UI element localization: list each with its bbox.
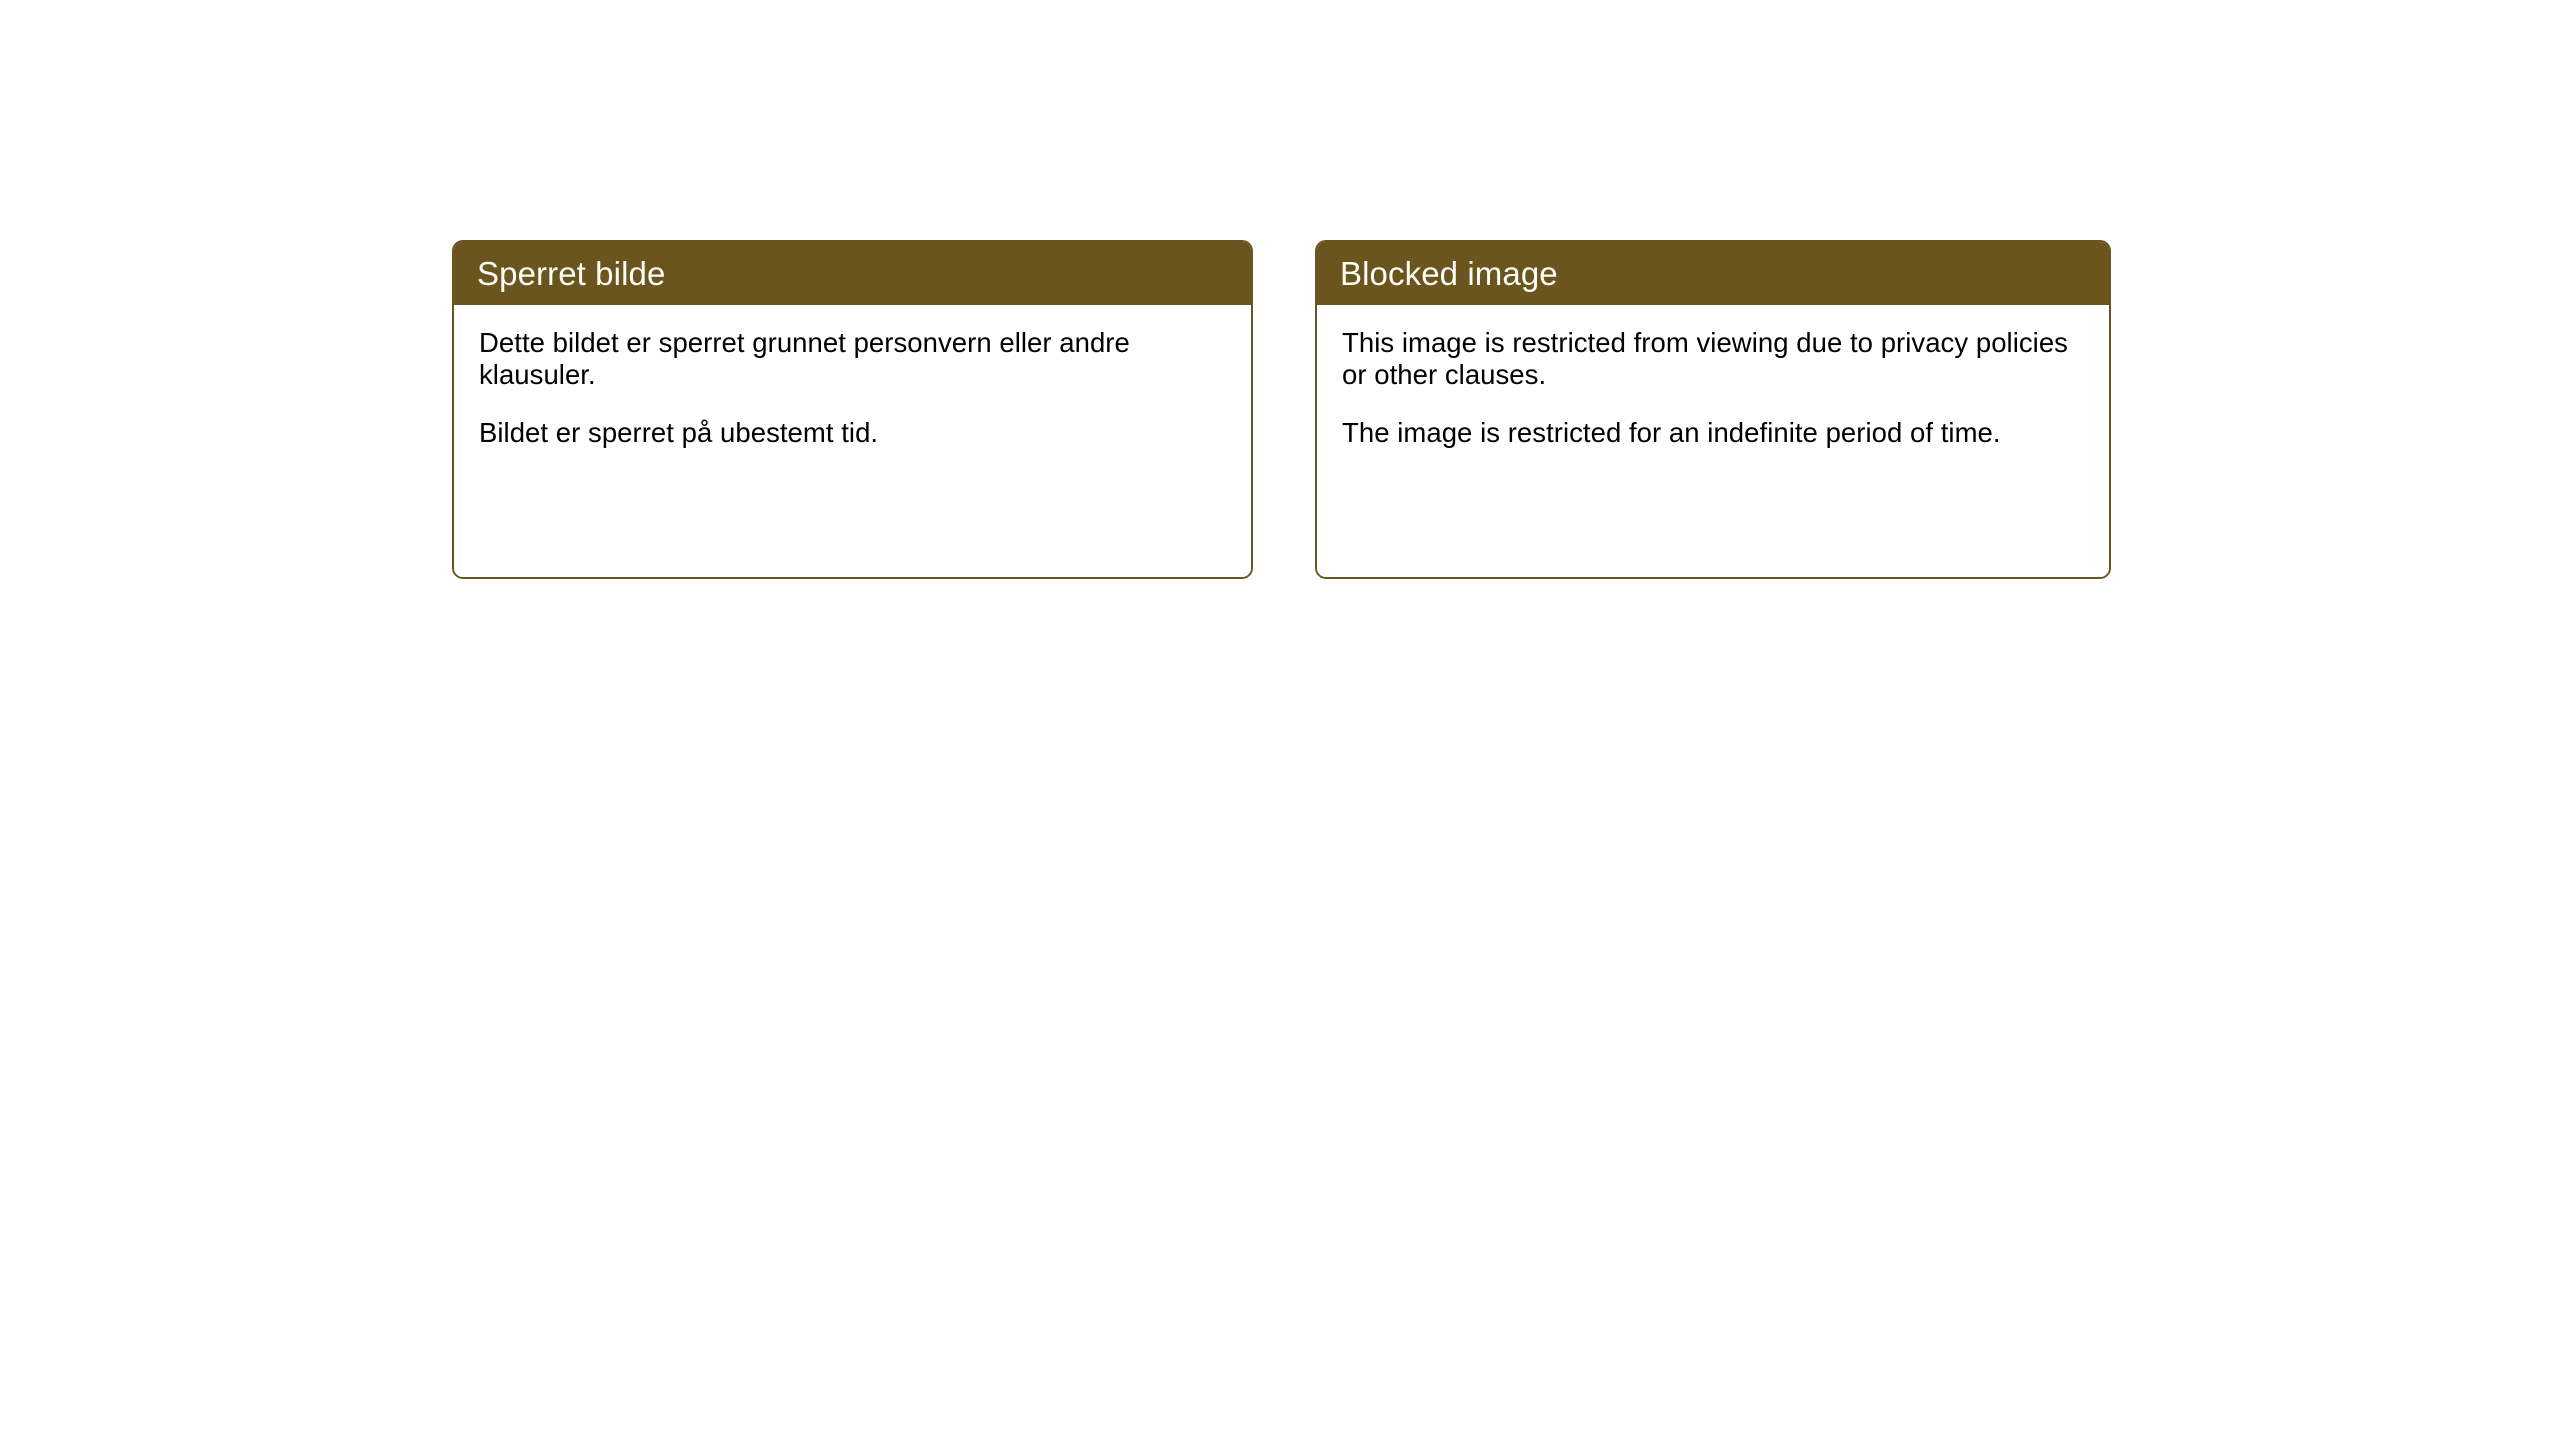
- card-paragraph-secondary-norwegian: Bildet er sperret på ubestemt tid.: [479, 417, 1227, 449]
- card-body-english: This image is restricted from viewing du…: [1317, 305, 2109, 577]
- card-header-english: Blocked image: [1317, 242, 2109, 305]
- card-paragraph-secondary-english: The image is restricted for an indefinit…: [1342, 417, 2085, 449]
- card-header-norwegian: Sperret bilde: [454, 242, 1251, 305]
- card-body-norwegian: Dette bildet er sperret grunnet personve…: [454, 305, 1251, 577]
- card-title-english: Blocked image: [1340, 257, 1558, 290]
- blocked-image-notice-card-english: Blocked image This image is restricted f…: [1315, 240, 2111, 579]
- card-paragraph-primary-norwegian: Dette bildet er sperret grunnet personve…: [479, 327, 1227, 391]
- blocked-image-notice-card-norwegian: Sperret bilde Dette bildet er sperret gr…: [452, 240, 1253, 579]
- page-canvas: Sperret bilde Dette bildet er sperret gr…: [0, 0, 2560, 1440]
- card-paragraph-primary-english: This image is restricted from viewing du…: [1342, 327, 2085, 391]
- card-title-norwegian: Sperret bilde: [477, 257, 665, 290]
